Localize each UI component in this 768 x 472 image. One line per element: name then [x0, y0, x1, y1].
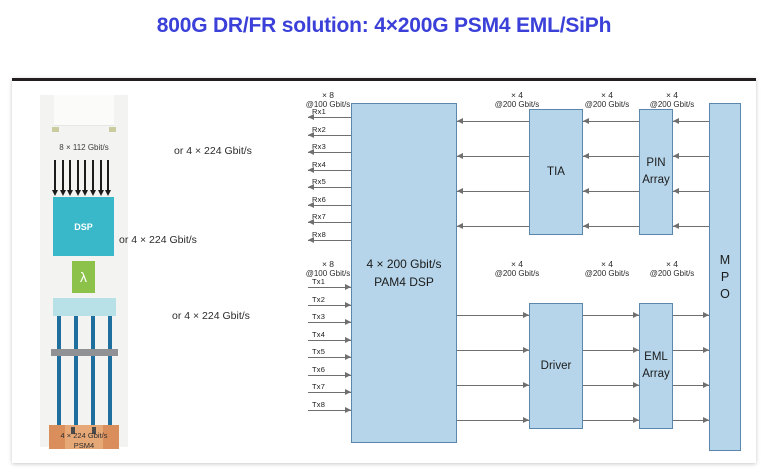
tx-dsp-to-driver-1 [457, 315, 529, 316]
tx-driver-to-eml-2 [583, 350, 639, 351]
rate-rx-tia-in: × 4 @200 Gbit/s [482, 90, 552, 110]
rx-pin-to-tia-1-arrowhead [583, 118, 589, 124]
rx-tia-to-dsp-4-arrowhead [457, 223, 463, 229]
rx-pin-to-tia-1 [583, 121, 639, 122]
rx-host-line-3 [308, 152, 351, 153]
optical-module-photo: 8 × 112 Gbit/s DSP λ 4 × 224 Gbit/s PSM4 [40, 95, 128, 447]
mpo-letter-m: M [720, 252, 730, 269]
rx-host-line-7 [308, 222, 351, 223]
rate-tx-driver-in: × 4 @200 Gbit/s [482, 259, 552, 279]
tx-driver-to-eml-4 [583, 420, 639, 421]
rx-mpo-to-pin-2-arrowhead [673, 153, 679, 159]
module-pin [92, 160, 94, 192]
module-bottom-label: 4 × 224 Gbit/s PSM4 [40, 431, 128, 451]
rx-tia-to-dsp-1 [457, 121, 529, 122]
block-mpo-connector[interactable]: M P O [709, 103, 741, 451]
rate-tx-eml-in: × 4 @200 Gbit/s [572, 259, 642, 279]
module-pin-arrow [60, 190, 66, 196]
module-waveguide [57, 316, 61, 429]
eml-line1: EML [644, 349, 668, 366]
annotation-tx-host-rate: or 4 × 224 Gbit/s [172, 310, 250, 322]
dsp-rate-line: 4 × 200 Gbit/s [366, 257, 441, 271]
rate-tx-mpo-in: × 4 @200 Gbit/s [637, 259, 707, 279]
module-pin [100, 160, 102, 192]
tx-lane-label-6: Tx6 [312, 365, 325, 374]
module-bottom-name: PSM4 [74, 441, 94, 450]
module-waveguide [91, 316, 95, 429]
page-title: 800G DR/FR solution: 4×200G PSM4 EML/SiP… [0, 14, 768, 38]
module-pin [69, 160, 71, 192]
rx-lane-label-2: Rx2 [312, 125, 326, 134]
rx-host-line-8 [308, 240, 351, 241]
tx-lane-label-2: Tx2 [312, 295, 325, 304]
tx-driver-to-eml-1 [583, 315, 639, 316]
pin-line2: Array [642, 172, 669, 189]
module-pin-arrow [52, 190, 58, 196]
tx-lane-label-1: Tx1 [312, 277, 325, 286]
tx-lane-label-7: Tx7 [312, 382, 325, 391]
block-eml-array[interactable]: EML Array [639, 303, 673, 429]
module-pin [107, 160, 109, 192]
rate-rx-mpo-in: × 4 @200 Gbit/s [637, 90, 707, 110]
rx-host-line-1 [308, 117, 351, 118]
module-pad-left [52, 127, 59, 132]
rx-pin-to-tia-2-arrowhead [583, 153, 589, 159]
rx-lane-label-4: Rx4 [312, 160, 326, 169]
rx-pin-to-tia-3-arrowhead [583, 188, 589, 194]
module-pin-arrow [82, 190, 88, 196]
tx-lane-label-4: Tx4 [312, 330, 325, 339]
rx-pin-to-tia-4 [583, 226, 639, 227]
rx-lane-label-5: Rx5 [312, 177, 326, 186]
eml-line2: Array [642, 366, 669, 383]
module-pin [62, 160, 64, 192]
rx-pin-to-tia-4-arrowhead [583, 223, 589, 229]
rx-pin-to-tia-2 [583, 156, 639, 157]
dsp-name-line: PAM4 DSP [374, 275, 434, 289]
rx-pin-to-tia-3 [583, 191, 639, 192]
module-pin-arrow [105, 190, 111, 196]
mpo-letter-p: P [721, 269, 729, 286]
block-pam4-dsp[interactable]: 4 × 200 Gbit/s PAM4 DSP [351, 103, 457, 443]
rx-lane-label-1: Rx1 [312, 107, 326, 116]
rx-mpo-to-pin-4-arrowhead [673, 223, 679, 229]
tx-lane-label-8: Tx8 [312, 400, 325, 409]
module-pin [54, 160, 56, 192]
rx-tia-to-dsp-4 [457, 226, 529, 227]
module-top-rate-label: 8 × 112 Gbit/s [40, 143, 128, 152]
pin-line1: PIN [646, 155, 665, 172]
tx-dsp-to-driver-2 [457, 350, 529, 351]
rx-tia-to-dsp-3 [457, 191, 529, 192]
module-pad-right [109, 127, 116, 132]
tx-dsp-to-driver-4 [457, 420, 529, 421]
module-waveguide [74, 316, 78, 429]
rx-host-line-4 [308, 170, 351, 171]
block-tia[interactable]: TIA [529, 109, 583, 235]
rx-mpo-to-pin-3-arrowhead [673, 188, 679, 194]
module-pin-array [54, 160, 112, 198]
rx-lane-label-7: Rx7 [312, 212, 326, 221]
rx-mpo-to-pin-1-arrowhead [673, 118, 679, 124]
rx-lane-label-8: Rx8 [312, 230, 326, 239]
rate-rx-pin-in: × 4 @200 Gbit/s [572, 90, 642, 110]
tx-lane-label-5: Tx5 [312, 347, 325, 356]
block-driver[interactable]: Driver [529, 303, 583, 429]
annotation-module-rate: or 4 × 224 Gbit/s [119, 234, 197, 246]
rx-host-line-2 [308, 135, 351, 136]
module-waveguides [53, 316, 116, 429]
rx-lane-label-6: Rx6 [312, 195, 326, 204]
rx-tia-to-dsp-2 [457, 156, 529, 157]
module-pin-arrow [90, 190, 96, 196]
rx-tia-to-dsp-2-arrowhead [457, 153, 463, 159]
module-gray-bar [51, 349, 118, 356]
module-cyan-bar [53, 298, 116, 316]
module-pin-arrow [98, 190, 104, 196]
block-pin-array[interactable]: PIN Array [639, 109, 673, 235]
module-waveguide [108, 316, 112, 429]
rx-tia-to-dsp-1-arrowhead [457, 118, 463, 124]
module-bottom-rate: 4 × 224 Gbit/s [61, 431, 108, 440]
rx-host-line-6 [308, 205, 351, 206]
rx-tia-to-dsp-3-arrowhead [457, 188, 463, 194]
module-pin-arrow [67, 190, 73, 196]
module-lambda-chip: λ [72, 261, 95, 293]
rx-host-line-5 [308, 187, 351, 188]
rx-lane-label-3: Rx3 [312, 142, 326, 151]
annotation-rx-host-rate: or 4 × 224 Gbit/s [174, 145, 252, 157]
block-diagram: 8 × 112 Gbit/s DSP λ 4 × 224 Gbit/s PSM4… [12, 78, 756, 463]
tx-dsp-to-driver-3 [457, 385, 529, 386]
tx-lane-label-3: Tx3 [312, 312, 325, 321]
tx-driver-to-eml-3 [583, 385, 639, 386]
mpo-letter-o: O [720, 286, 730, 303]
module-top-notch [54, 95, 114, 126]
module-pin [84, 160, 86, 192]
module-pin [77, 160, 79, 192]
module-dsp-chip: DSP [53, 197, 114, 256]
module-pin-arrow [75, 190, 81, 196]
